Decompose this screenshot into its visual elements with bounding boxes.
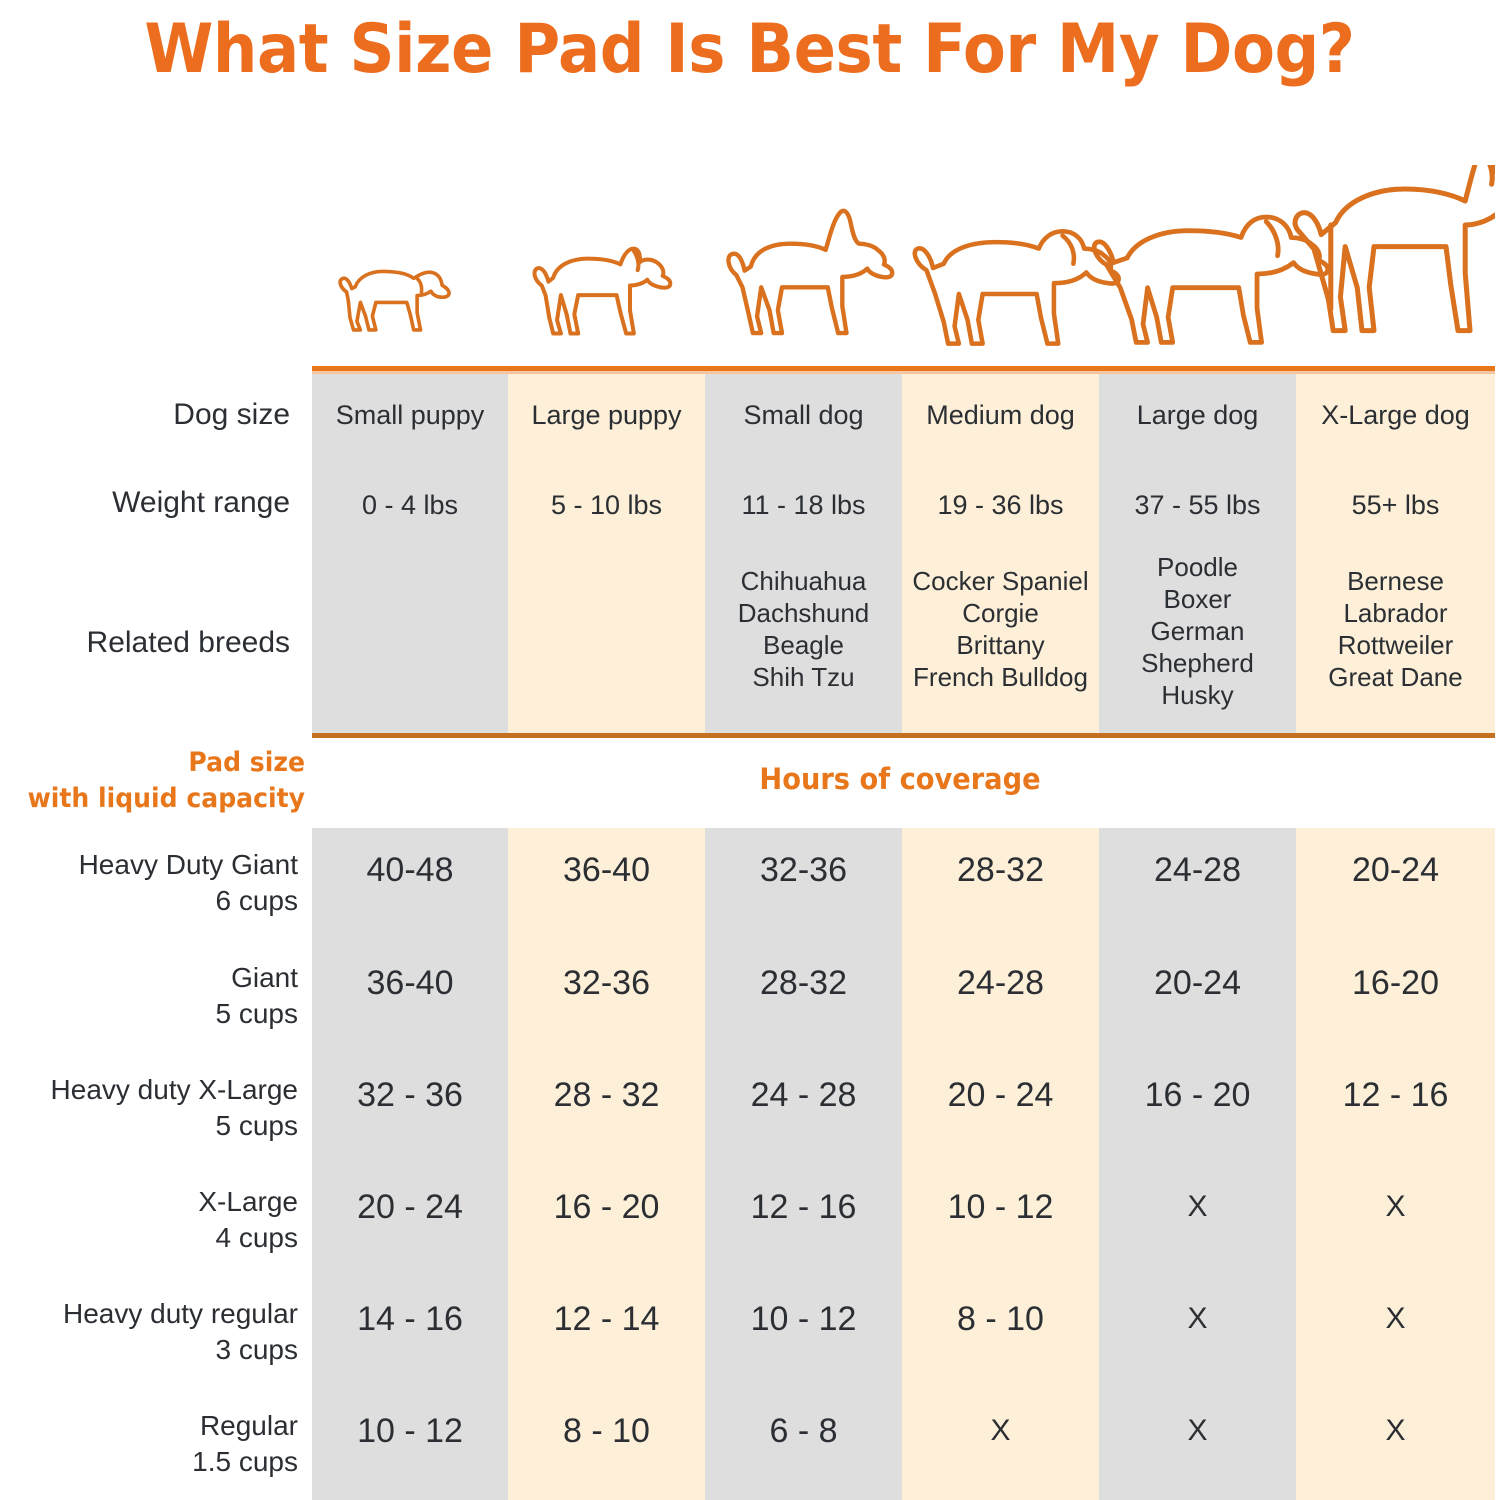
pad-row-label-1: Giant5 cups [0,960,298,1032]
pad-row-label-4: Heavy duty regular3 cups [0,1296,298,1368]
hours-cell-r4-c3: 8 - 10 [902,1298,1099,1340]
medium-dog-icon [915,231,1119,343]
pad-row-label-5: Regular1.5 cups [0,1408,298,1480]
breed-line: Labrador [1296,597,1495,629]
hours-cell-r1-c0: 36-40 [312,962,508,1004]
hours-cell-r3-c2: 12 - 16 [705,1186,902,1228]
cell-breeds-3: Cocker SpanielCorgieBrittanyFrench Bulld… [902,565,1099,693]
hours-cell-r5-c3: X [902,1410,1099,1452]
pad-capacity: 5 cups [0,996,298,1032]
breed-line: Brittany [902,629,1099,661]
hours-cell-r4-c1: 12 - 14 [508,1298,705,1340]
hours-cell-r1-c2: 28-32 [705,962,902,1004]
cell-weight-range-2: 11 - 18 lbs [705,488,902,522]
cell-breeds-4: PoodleBoxerGermanShepherdHusky [1099,551,1296,711]
small-dog-icon [728,211,892,333]
hours-cell-r2-c3: 20 - 24 [902,1074,1099,1116]
breed-line: Husky [1099,679,1296,711]
hours-cell-r5-c2: 6 - 8 [705,1410,902,1452]
hours-cell-r1-c4: 20-24 [1099,962,1296,1004]
small-puppy-dog-icon [340,271,449,329]
row-label-dog-size: Dog size [0,396,290,434]
page-title: What Size Pad Is Best For My Dog? [60,4,1439,96]
breed-line: Shih Tzu [705,661,902,693]
hours-cell-r5-c0: 10 - 12 [312,1410,508,1452]
cell-dog-size-2: Small dog [705,398,902,432]
section-divider-rule [312,733,1495,738]
pad-size-heading: Pad size with liquid capacity [21,745,305,817]
pad-capacity: 3 cups [0,1332,298,1368]
hours-cell-r5-c4: X [1099,1410,1296,1452]
breed-line: Boxer [1099,583,1296,615]
pad-row-label-3: X-Large4 cups [0,1184,298,1256]
pad-size-heading-line1: Pad size [21,745,305,781]
breed-line: Shepherd [1099,647,1296,679]
cell-weight-range-4: 37 - 55 lbs [1099,488,1296,522]
hours-stripe-small-puppy [312,828,508,1500]
hours-cell-r3-c4: X [1099,1186,1296,1228]
large-dog-icon [1094,217,1327,342]
hours-cell-r3-c3: 10 - 12 [902,1186,1099,1228]
breed-line: Rottweiler [1296,629,1495,661]
pad-row-label-0: Heavy Duty Giant6 cups [0,847,298,919]
hours-stripe-small-dog [705,828,902,1500]
hours-cell-r4-c0: 14 - 16 [312,1298,508,1340]
x-large-dog-icon [1295,165,1495,331]
breed-line: Cocker Spaniel [902,565,1099,597]
breed-line: German [1099,615,1296,647]
cell-weight-range-1: 5 - 10 lbs [508,488,705,522]
cell-dog-size-4: Large dog [1099,398,1296,432]
pad-name: Heavy Duty Giant [0,847,298,883]
breed-line: Bernese [1296,565,1495,597]
hours-cell-r5-c5: X [1296,1410,1495,1452]
hours-cell-r2-c2: 24 - 28 [705,1074,902,1116]
large-puppy-dog-icon [534,249,670,334]
pad-name: X-Large [0,1184,298,1220]
cell-dog-size-1: Large puppy [508,398,705,432]
pad-capacity: 4 cups [0,1220,298,1256]
breed-line: Chihuahua [705,565,902,597]
pad-size-heading-line2: with liquid capacity [21,781,305,817]
hours-cell-r2-c1: 28 - 32 [508,1074,705,1116]
hours-cell-r2-c0: 32 - 36 [312,1074,508,1116]
cell-weight-range-0: 0 - 4 lbs [312,488,508,522]
cell-dog-size-0: Small puppy [312,398,508,432]
pad-name: Giant [0,960,298,996]
hours-cell-r1-c5: 16-20 [1296,962,1495,1004]
cell-breeds-2: ChihuahuaDachshundBeagleShih Tzu [705,565,902,693]
pad-name: Heavy duty X-Large [0,1072,298,1108]
breed-line: Corgie [902,597,1099,629]
hours-cell-r0-c2: 32-36 [705,849,902,891]
hours-cell-r0-c1: 36-40 [508,849,705,891]
cell-dog-size-3: Medium dog [902,398,1099,432]
hours-stripe-xlarge-dog [1296,828,1495,1500]
pad-name: Heavy duty regular [0,1296,298,1332]
hours-cell-r4-c2: 10 - 12 [705,1298,902,1340]
dog-silhouette-strip [312,165,1495,370]
hours-cell-r2-c4: 16 - 20 [1099,1074,1296,1116]
cell-weight-range-5: 55+ lbs [1296,488,1495,522]
hours-stripe-large-puppy [508,828,705,1500]
cell-weight-range-3: 19 - 36 lbs [902,488,1099,522]
hours-cell-r3-c0: 20 - 24 [312,1186,508,1228]
pad-name: Regular [0,1408,298,1444]
pad-capacity: 5 cups [0,1108,298,1144]
hours-stripe-large-dog [1099,828,1296,1500]
breed-line: Dachshund [705,597,902,629]
hours-cell-r0-c5: 20-24 [1296,849,1495,891]
breed-line: French Bulldog [902,661,1099,693]
row-label-related-breeds: Related breeds [0,624,290,662]
breed-line: Poodle [1099,551,1296,583]
hours-cell-r2-c5: 12 - 16 [1296,1074,1495,1116]
hours-cell-r0-c3: 28-32 [902,849,1099,891]
row-label-weight-range: Weight range [0,484,290,522]
pad-row-label-2: Heavy duty X-Large5 cups [0,1072,298,1144]
hours-cell-r3-c5: X [1296,1186,1495,1228]
hours-stripe-medium-dog [902,828,1099,1500]
hours-cell-r4-c5: X [1296,1298,1495,1340]
hours-cell-r0-c4: 24-28 [1099,849,1296,891]
hours-cell-r5-c1: 8 - 10 [508,1410,705,1452]
cell-breeds-5: BerneseLabradorRottweilerGreat Dane [1296,565,1495,693]
pad-capacity: 1.5 cups [0,1444,298,1480]
hours-cell-r4-c4: X [1099,1298,1296,1340]
hours-cell-r1-c1: 32-36 [508,962,705,1004]
hours-cell-r3-c1: 16 - 20 [508,1186,705,1228]
breed-line: Great Dane [1296,661,1495,693]
pad-capacity: 6 cups [0,883,298,919]
hours-cell-r1-c3: 24-28 [902,962,1099,1004]
hours-of-coverage-heading: Hours of coverage [618,760,1182,798]
cell-dog-size-5: X-Large dog [1296,398,1495,432]
breed-line: Beagle [705,629,902,661]
hours-cell-r0-c0: 40-48 [312,849,508,891]
